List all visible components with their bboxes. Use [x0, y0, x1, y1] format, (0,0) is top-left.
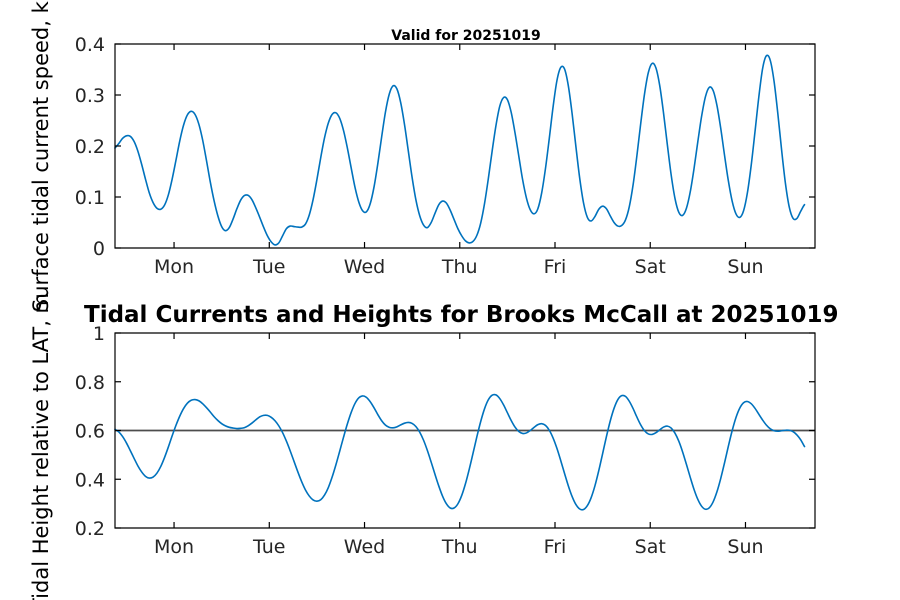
heights-y-tick-label: 1 [93, 323, 105, 345]
main-title: Tidal Currents and Heights for Brooks Mc… [84, 302, 839, 328]
heights-x-tick-label: Sat [635, 536, 666, 558]
currents-panel-title: Valid for 20251019 [391, 28, 540, 44]
figure-canvas: Valid for 20251019 00.10.20.30.4 MonTueW… [0, 0, 900, 600]
heights-y-tick-label: 0.4 [75, 469, 105, 491]
currents-y-tick-label: 0.1 [75, 187, 105, 209]
figure-background [0, 0, 900, 600]
currents-y-axis-label: Surface tidal current speed, kn [29, 0, 53, 312]
currents-x-tick-label: Mon [154, 256, 194, 278]
currents-y-tick-label: 0.3 [75, 85, 105, 107]
currents-x-tick-label: Fri [544, 256, 567, 278]
currents-y-tick-label: 0 [93, 238, 105, 260]
tidal-figure: Valid for 20251019 00.10.20.30.4 MonTueW… [0, 0, 900, 600]
currents-y-tick-label: 0.2 [75, 136, 105, 158]
heights-y-tick-label: 0.2 [75, 518, 105, 540]
currents-x-tick-label: Tue [252, 256, 285, 278]
heights-x-tick-label: Sun [727, 536, 763, 558]
heights-x-tick-label: Fri [544, 536, 567, 558]
heights-x-tick-label: Wed [344, 536, 385, 558]
heights-x-tick-label: Thu [441, 536, 478, 558]
heights-y-tick-label: 0.6 [75, 421, 105, 443]
heights-x-tick-label: Tue [252, 536, 285, 558]
currents-y-tick-label: 0.4 [75, 34, 105, 56]
heights-x-tick-label: Mon [154, 536, 194, 558]
currents-x-tick-label: Sun [727, 256, 763, 278]
currents-x-tick-label: Sat [635, 256, 666, 278]
currents-x-tick-label: Thu [441, 256, 478, 278]
heights-y-axis-label: Tidal Height relative to LAT, m [29, 293, 53, 600]
heights-y-tick-label: 0.8 [75, 372, 105, 394]
currents-x-tick-label: Wed [344, 256, 385, 278]
